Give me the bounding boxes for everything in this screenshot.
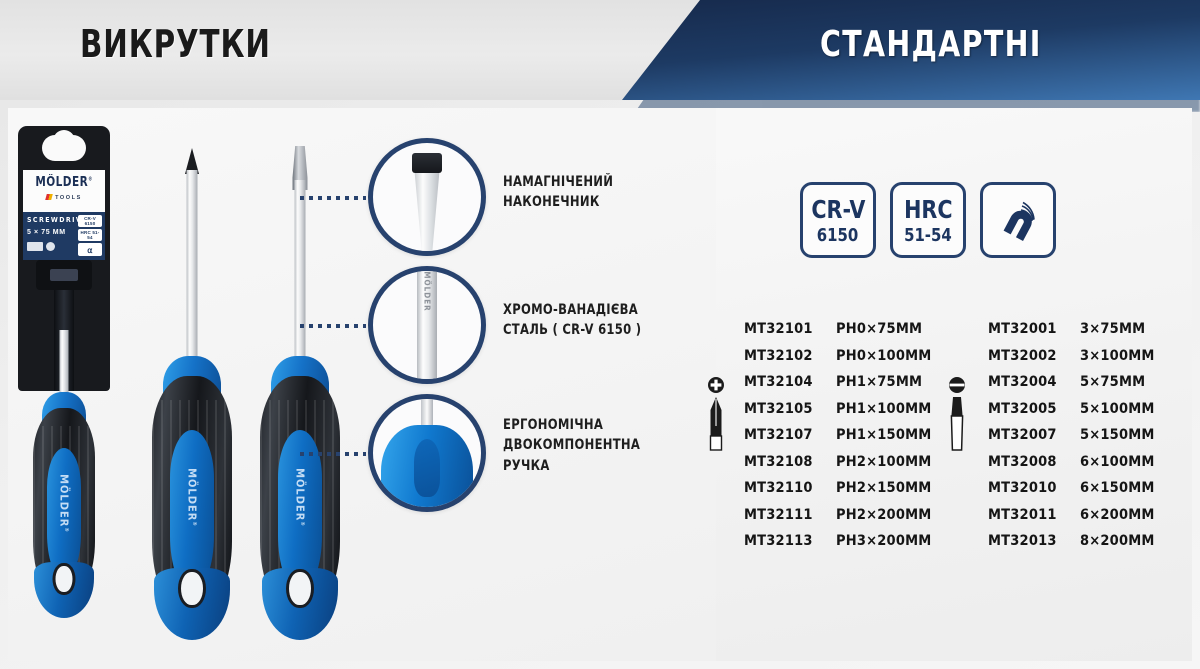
package-label-bottom: SCREWDRIVER 5 × 75 MM CR-V 6150 HRC 51-5… [23,212,105,260]
handle-hang-eye [56,566,73,592]
table-row: MT320075×150MM [988,422,1155,449]
callout-circle-ergonomic-handle [368,394,486,512]
package-clip [36,260,92,290]
bit-swatch-icon [27,242,43,251]
shaft-engraving: MÖLDER [423,271,432,311]
table-row: MT32113PH3×200MM [744,528,931,555]
package-brand-mark: ® [88,177,93,183]
table-row: MT320106×150MM [988,475,1155,502]
table-row: MT320045×75MM [988,369,1155,396]
phillips-bit-icon [703,376,729,458]
callout-text-2: ХРОМО-ВАНАДІЄВА СТАЛЬ ( CR-V 6150 ) [503,300,641,341]
package-sub-brand: TOOLS [23,194,105,201]
callout-circle-steel-shaft: MÖLDER [368,266,486,384]
package-mini-icons [27,242,55,251]
handle-grip-stripe: MÖLDER® [170,430,214,590]
screwdriver-phillips: MÖLDER® [140,148,244,648]
table-row: MT320023×100MM [988,343,1155,370]
package-magnet-badge: ⍺ [78,243,102,256]
category-title: СТАНДАРТНІ [820,24,1042,65]
product-table-slotted: MT320013×75MM MT320023×100MM MT320045×75… [988,316,1155,555]
hrc-badge-label: HRC [904,195,952,224]
handle-brand: MÖLDER® [58,475,71,534]
callout-text-3: ЕРГОНОМІЧНА ДВОКОМПОНЕНТНА РУЧКА [503,415,640,476]
package-spec-badges: CR-V 6150 HRC 51-54 ⍺ [78,215,102,258]
cr-v-badge-label: CR-V [811,195,865,224]
shaft [295,180,306,366]
shaft [60,330,69,400]
handle-brand: MÖLDER® [294,468,307,527]
package-brand-logo: MÖLDER® [27,175,101,190]
package-hang-hole [42,135,86,161]
table-row: MT32110PH2×150MM [744,475,931,502]
handle-grip-stripe: MÖLDER® [47,448,81,578]
table-row: MT320013×75MM [988,316,1155,343]
package-size: 5 × 75 MM [27,229,66,236]
callout-connector-1 [300,196,366,200]
callout-circle-magnetized-tip [368,138,486,256]
callout-text-1: НАМАГНІЧЕНИЙ НАКОНЕЧНИК [503,172,613,213]
table-row: MT32111PH2×200MM [744,502,931,529]
table-row: MT32102PH0×100MM [744,343,931,370]
table-row: MT320086×100MM [988,449,1155,476]
package-crv-badge: CR-V 6150 [78,215,102,227]
package-label-top: MÖLDER® TOOLS [23,170,105,212]
callout-connector-3 [300,452,366,456]
handle-center-groove [414,439,440,497]
magnet-icon [995,197,1041,243]
package-hrc-badge: HRC 51-54 [78,229,102,241]
magnetized-tip-icon [412,153,442,173]
screwdriver-packed: MÖLDER® [22,330,106,645]
table-row: MT32105PH1×100MM [744,396,931,423]
table-row: MT32104PH1×75MM [744,369,931,396]
hrc-badge: HRC 51-54 [890,182,966,258]
hrc-badge-value: 51-54 [904,225,952,246]
cr-v-badge: CR-V 6150 [800,182,876,258]
shaft [187,170,198,366]
magnetic-badge [980,182,1056,258]
table-row: MT320116×200MM [988,502,1155,529]
handle-hang-eye [289,572,311,605]
slotted-bit-icon [944,376,970,458]
table-row: MT320138×200MM [988,528,1155,555]
tip-blade [413,173,441,256]
table-row: MT32107PH1×150MM [744,422,931,449]
catalog-page: ВИКРУТКИ СТАНДАРТНІ MÖLDER® TOOLS SCREWD… [0,0,1200,669]
table-row: MT32108PH2×100MM [744,449,931,476]
table-row: MT320055×100MM [988,396,1155,423]
page-title: ВИКРУТКИ [80,22,271,66]
screwdriver-slotted: MÖLDER® [248,146,352,646]
head-swatch-icon [46,242,55,251]
spec-badges: CR-V 6150 HRC 51-54 [800,182,1056,258]
product-table-phillips: MT32101PH0×75MM MT32102PH0×100MM MT32104… [744,316,931,555]
callout-connector-2 [300,324,366,328]
brand-square-icon [45,194,53,200]
cr-v-badge-value: 6150 [817,225,858,246]
package-brand-text: MÖLDER [35,175,88,190]
table-row: MT32101PH0×75MM [744,316,931,343]
handle-hang-eye [181,572,203,605]
handle-brand: MÖLDER® [186,468,199,527]
